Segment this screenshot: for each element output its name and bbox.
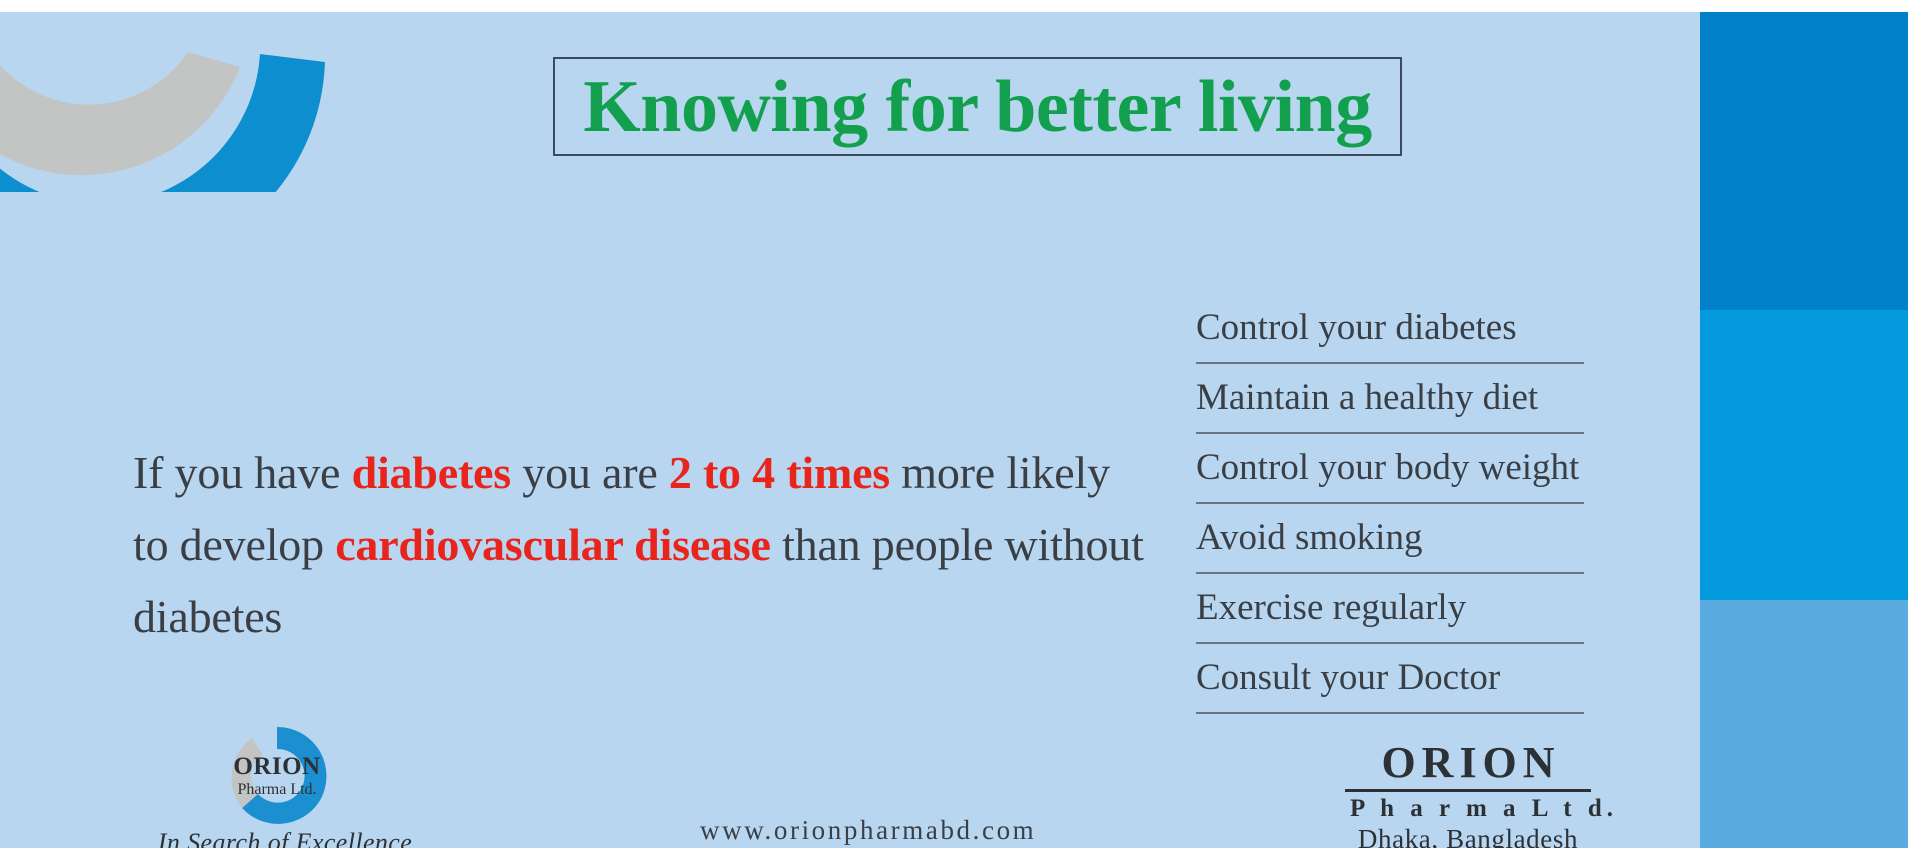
- side-bar-top: [1700, 12, 1908, 310]
- statement-highlight-cvd: cardiovascular disease: [335, 519, 771, 570]
- statement-part-2: you are: [511, 447, 669, 498]
- statement-text: If you have diabetes you are 2 to 4 time…: [133, 437, 1153, 653]
- page-title: Knowing for better living: [583, 70, 1372, 144]
- logo-right-sub-brand: P h a r m a L t d.: [1345, 795, 1591, 823]
- statement-part-1: If you have: [133, 447, 352, 498]
- logo-right-city: Dhaka, Bangladesh: [1345, 823, 1591, 848]
- list-item: Control your body weight: [1196, 434, 1584, 504]
- orion-logo-left: ORION Pharma Ltd. In Search of Excellenc…: [140, 724, 430, 848]
- poster-canvas: Knowing for better living If you have di…: [0, 12, 1700, 848]
- list-item: Control your diabetes: [1196, 294, 1584, 364]
- advice-list: Control your diabetes Maintain a healthy…: [1196, 294, 1584, 714]
- list-item: Consult your Doctor: [1196, 644, 1584, 714]
- side-bar-middle: [1700, 310, 1908, 600]
- statement-highlight-times: 2 to 4 times: [669, 447, 890, 498]
- logo-right-divider: [1345, 789, 1591, 792]
- website-url[interactable]: www.orionpharmabd.com: [700, 815, 1036, 846]
- list-item: Avoid smoking: [1196, 504, 1584, 574]
- title-box: Knowing for better living: [553, 57, 1402, 156]
- list-item: Maintain a healthy diet: [1196, 364, 1584, 434]
- statement-highlight-diabetes: diabetes: [352, 447, 511, 498]
- side-color-bars: [1700, 12, 1908, 848]
- orion-logo-right: ORION P h a r m a L t d. Dhaka, Banglade…: [1345, 739, 1591, 848]
- corner-swoosh-icon: [0, 12, 410, 192]
- orion-circle-swoosh-icon: ORION Pharma Ltd.: [222, 724, 332, 828]
- logo-tagline: In Search of Excellence: [140, 828, 430, 848]
- poster-root: Knowing for better living If you have di…: [0, 0, 1908, 860]
- list-item: Exercise regularly: [1196, 574, 1584, 644]
- side-bar-bottom: [1700, 600, 1908, 848]
- logo-right-brand: ORION: [1345, 739, 1591, 787]
